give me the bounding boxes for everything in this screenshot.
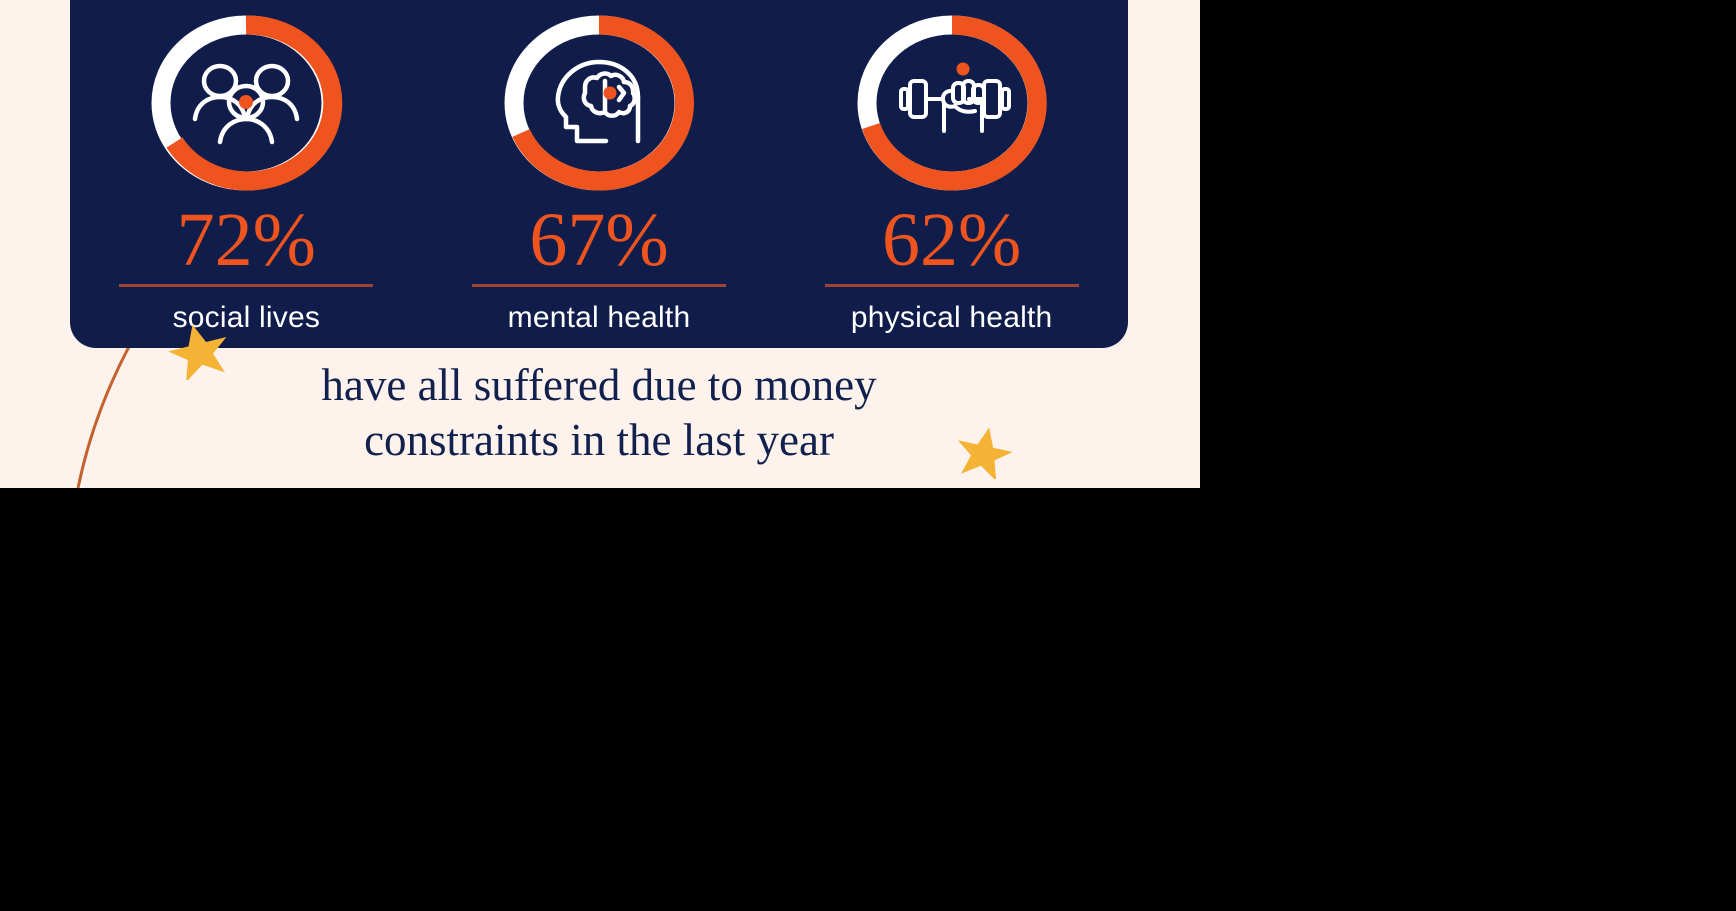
stat-divider (472, 284, 726, 287)
stat-social-lives: 72% social lives (96, 8, 396, 335)
dumbbell-fist-icon (897, 57, 1007, 149)
stat-divider (119, 284, 373, 287)
group-people-icon (191, 57, 301, 149)
stat-divider (825, 284, 1079, 287)
donut-ring-social-lives (143, 8, 349, 198)
stat-mental-health: 67% mental health (449, 8, 749, 335)
star-icon (955, 425, 1013, 484)
stat-percent: 72% (177, 204, 316, 276)
stat-percent: 67% (529, 204, 668, 276)
stats-row: 72% social lives (70, 0, 1128, 347)
screenshot-stage: 72% social lives (0, 0, 1736, 911)
stat-label: physical health (851, 301, 1052, 335)
head-brain-icon (544, 57, 654, 149)
stat-percent: 62% (882, 204, 1021, 276)
stat-label: mental health (508, 301, 691, 335)
stat-physical-health: 62% physical health (802, 8, 1102, 335)
star-icon (168, 322, 230, 385)
donut-ring-physical-health (849, 8, 1055, 198)
donut-ring-mental-health (496, 8, 702, 198)
